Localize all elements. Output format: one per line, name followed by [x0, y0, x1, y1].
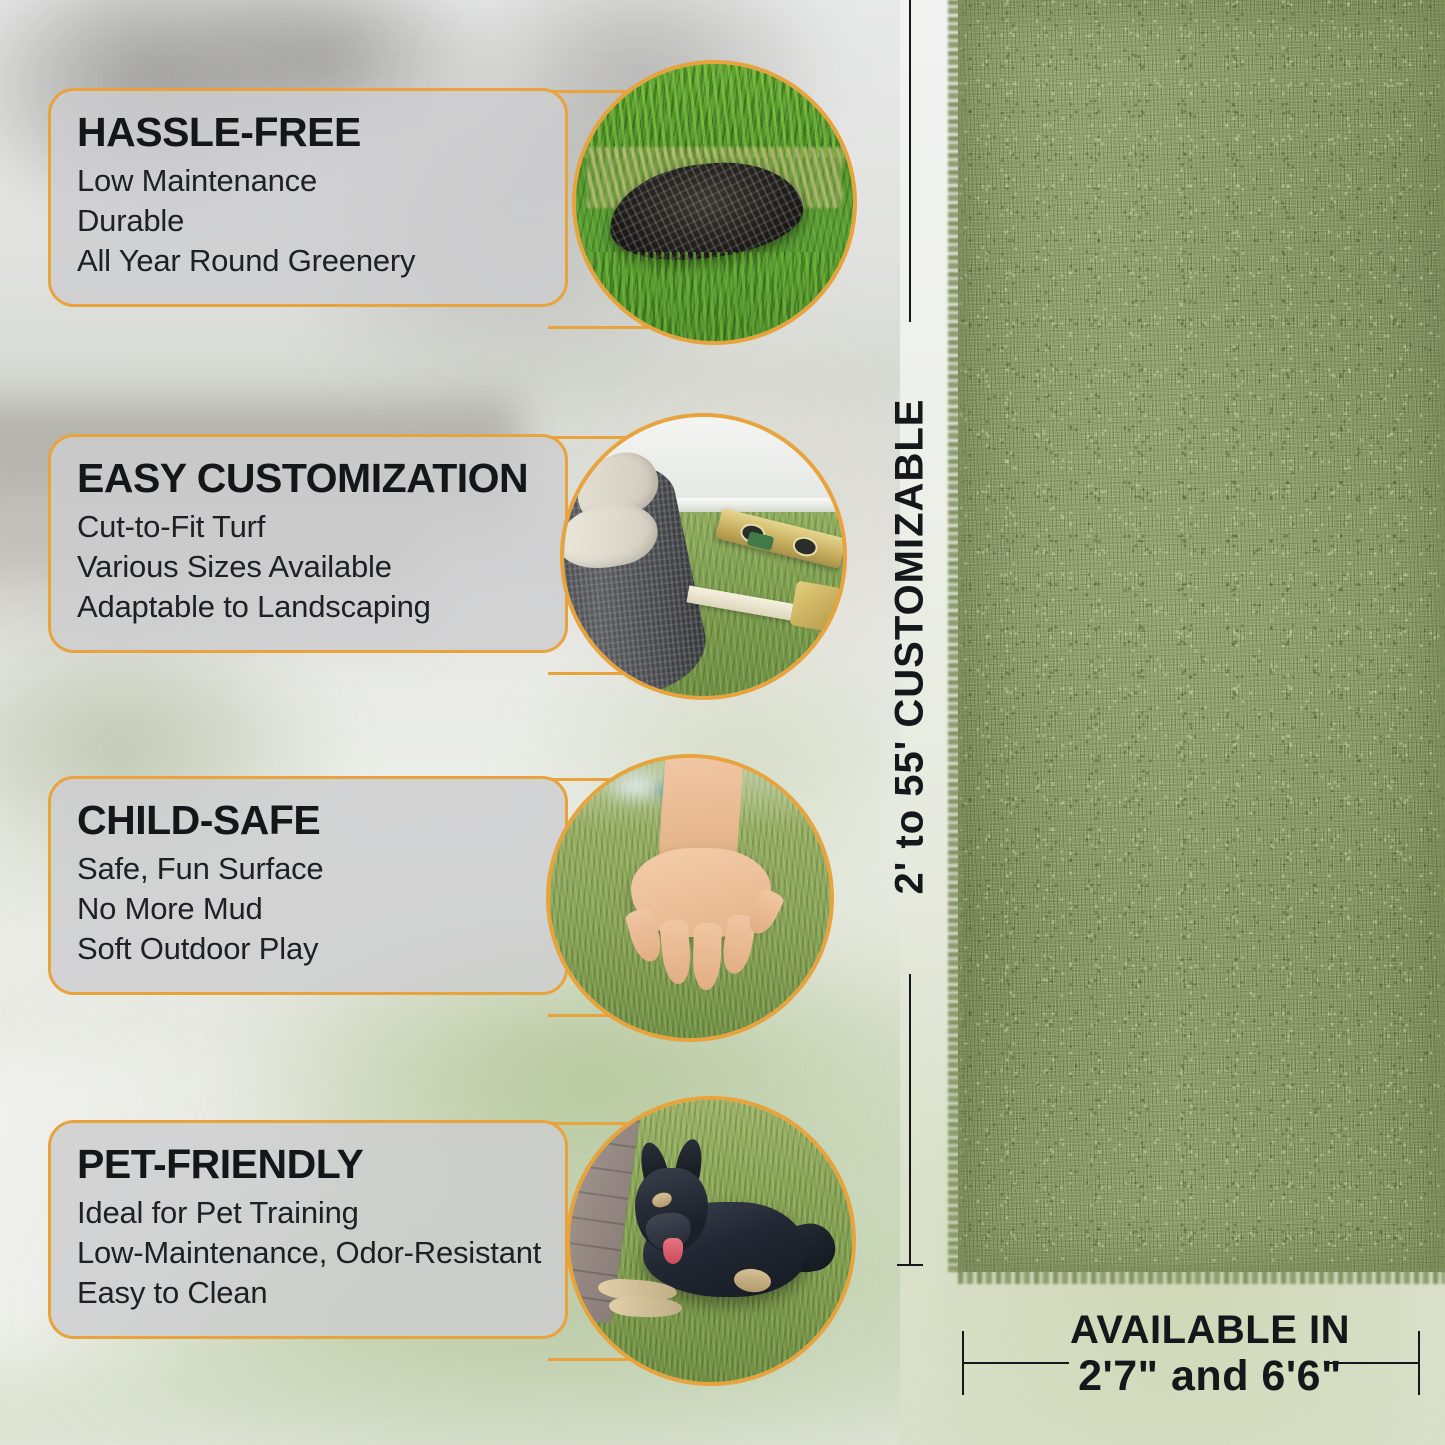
length-dimension-end-tick	[897, 1264, 923, 1266]
feature-title: EASY CUSTOMIZATION	[77, 457, 539, 500]
feature-line: Various Sizes Available	[77, 547, 539, 587]
turf-roll-strip	[958, 0, 1445, 1272]
feature-line: All Year Round Greenery	[77, 241, 539, 281]
feature-line: Durable	[77, 201, 539, 241]
child-hand-on-turf-photo	[546, 754, 834, 1042]
dog-lying-on-turf-photo	[566, 1096, 856, 1386]
feature-card[interactable]: EASY CUSTOMIZATION Cut-to-Fit Turf Vario…	[48, 434, 568, 653]
feature-line: Low-Maintenance, Odor-Resistant	[77, 1233, 539, 1273]
feature-title: HASSLE-FREE	[77, 111, 539, 154]
length-dimension-line-upper	[909, 0, 911, 322]
feature-title: PET-FRIENDLY	[77, 1143, 539, 1186]
feature-line: Ideal for Pet Training	[77, 1193, 539, 1233]
length-dimension-text: 2' to 55' CUSTOMIZABLE	[888, 398, 933, 894]
feature-card[interactable]: HASSLE-FREE Low Maintenance Durable All …	[48, 88, 568, 307]
feature-line: Soft Outdoor Play	[77, 929, 539, 969]
length-dimension-label: 2' to 55' CUSTOMIZABLE	[882, 336, 938, 956]
width-dimension-text-line1: AVAILABLE IN	[1010, 1310, 1410, 1351]
feature-card[interactable]: PET-FRIENDLY Ideal for Pet Training Low-…	[48, 1120, 568, 1339]
feature-line: Safe, Fun Surface	[77, 849, 539, 889]
width-dimension-label: AVAILABLE IN 2'7" and 6'6"	[1010, 1310, 1410, 1399]
feature-line: Low Maintenance	[77, 161, 539, 201]
feature-title: CHILD-SAFE	[77, 799, 539, 842]
feature-line: Cut-to-Fit Turf	[77, 507, 539, 547]
turf-roll-backing-photo	[572, 60, 857, 345]
feature-line: Easy to Clean	[77, 1273, 539, 1313]
width-dimension-text-line2: 2'7" and 6'6"	[1010, 1353, 1410, 1399]
infographic-canvas: HASSLE-FREE Low Maintenance Durable All …	[0, 0, 1445, 1445]
feature-line: No More Mud	[77, 889, 539, 929]
gloved-hands-installing-turf-photo	[560, 413, 847, 700]
feature-card[interactable]: CHILD-SAFE Safe, Fun Surface No More Mud…	[48, 776, 568, 995]
length-dimension-line-lower	[909, 974, 911, 1265]
feature-line: Adaptable to Landscaping	[77, 587, 539, 627]
